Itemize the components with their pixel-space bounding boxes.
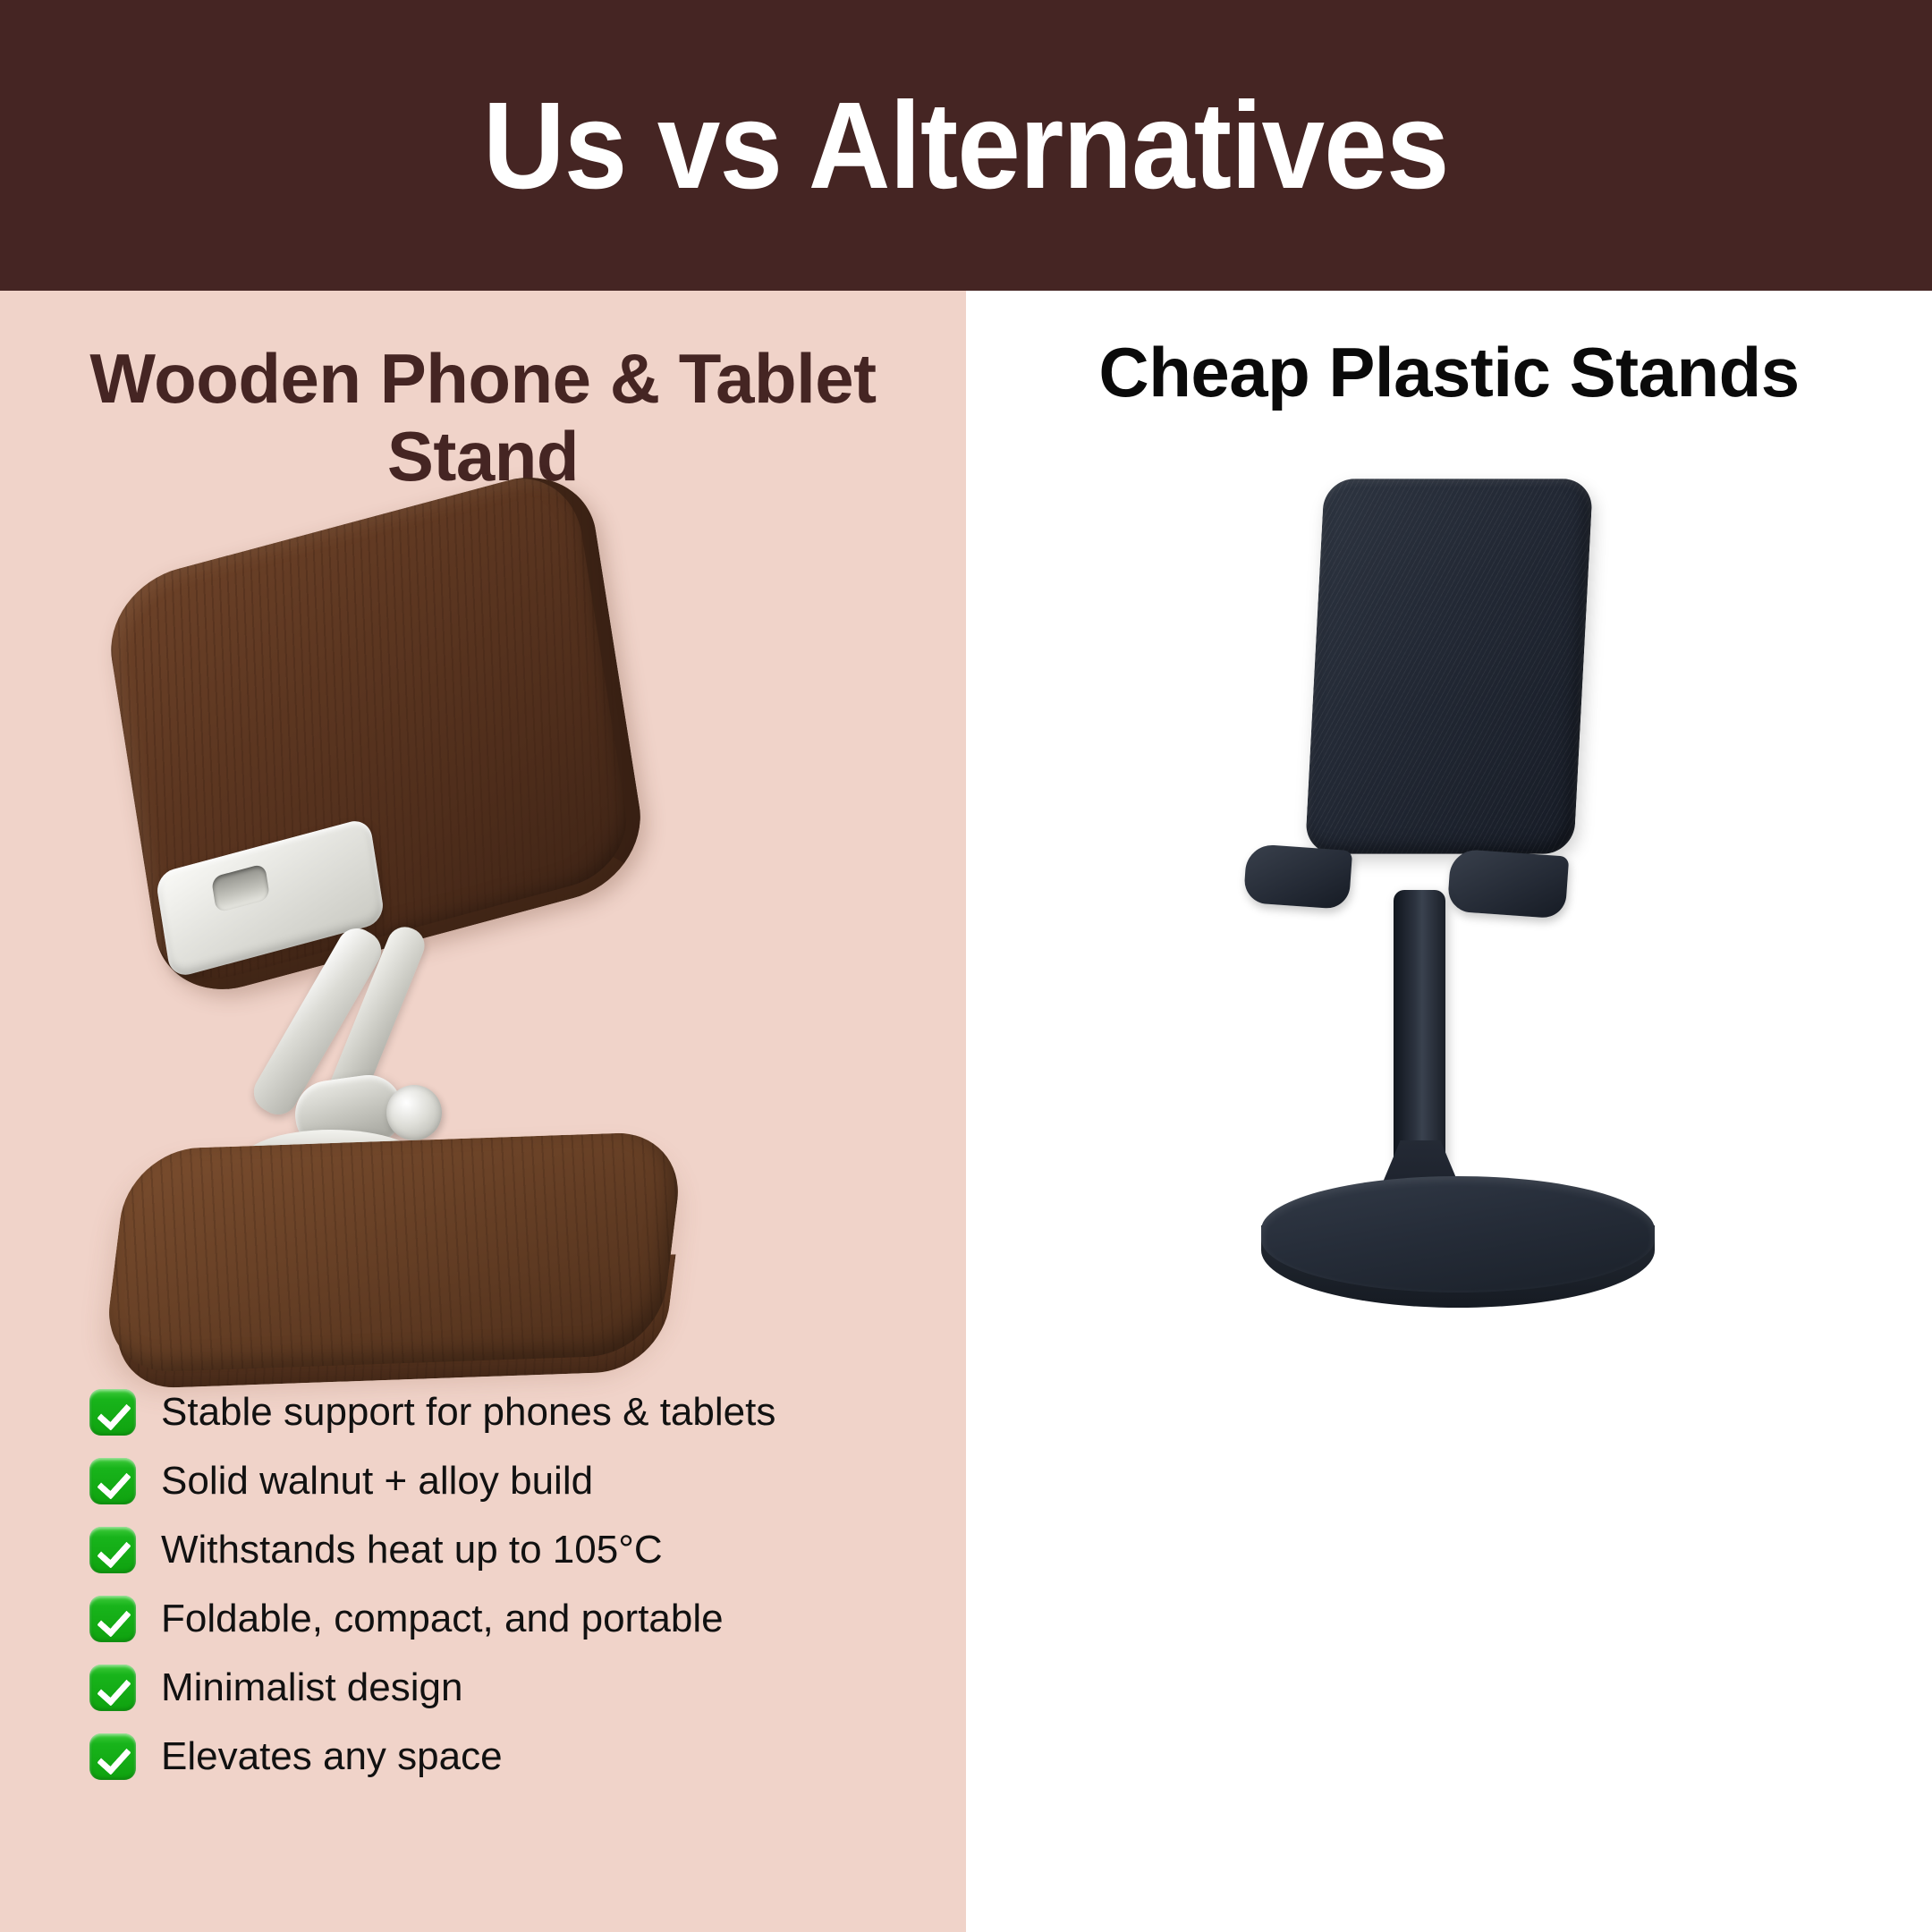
plastic-back-plate [1305, 479, 1593, 853]
check-mark-icon [89, 1389, 136, 1436]
list-item: Stable support for phones & tablets [89, 1389, 921, 1436]
wooden-stand-illustration [0, 514, 966, 1230]
page-title: Us vs Alternatives [483, 84, 1449, 208]
feature-label: Withstands heat up to 105°C [161, 1529, 663, 1572]
wood-base-top [101, 1131, 686, 1373]
left-panel: Wooden Phone & Tablet Stand Stable suppo… [0, 291, 966, 1932]
left-feature-list: Stable support for phones & tablets Soli… [89, 1389, 921, 1802]
feature-label: Foldable, compact, and portable [161, 1597, 724, 1640]
plastic-stand-illustration [966, 461, 1932, 1248]
plastic-base-top [1261, 1176, 1655, 1292]
feature-label: Stable support for phones & tablets [161, 1391, 775, 1434]
feature-label: Solid walnut + alloy build [161, 1460, 593, 1503]
list-item: Elevates any space [89, 1733, 921, 1780]
feature-label: Minimalist design [161, 1666, 462, 1709]
list-item: Withstands heat up to 105°C [89, 1527, 921, 1573]
check-mark-icon [89, 1458, 136, 1504]
feature-label: Elevates any space [161, 1735, 503, 1778]
plastic-lip-left [1243, 843, 1352, 910]
list-item: Solid walnut + alloy build [89, 1458, 921, 1504]
check-mark-icon [89, 1733, 136, 1780]
check-mark-icon [89, 1527, 136, 1573]
check-mark-icon [89, 1596, 136, 1642]
hinge-knob [386, 1085, 442, 1140]
list-item: Minimalist design [89, 1665, 921, 1711]
header-bar: Us vs Alternatives [0, 0, 1932, 291]
comparison-infographic: Us vs Alternatives Wooden Phone & Tablet… [0, 0, 1932, 1932]
list-item: Foldable, compact, and portable [89, 1596, 921, 1642]
right-column-title: Cheap Plastic Stands [966, 334, 1932, 411]
plastic-lip-right [1447, 848, 1570, 919]
check-mark-icon [89, 1665, 136, 1711]
left-column-title: Wooden Phone & Tablet Stand [0, 340, 966, 496]
right-panel: Cheap Plastic Stands Flimsy materials Ea… [966, 291, 1932, 1932]
